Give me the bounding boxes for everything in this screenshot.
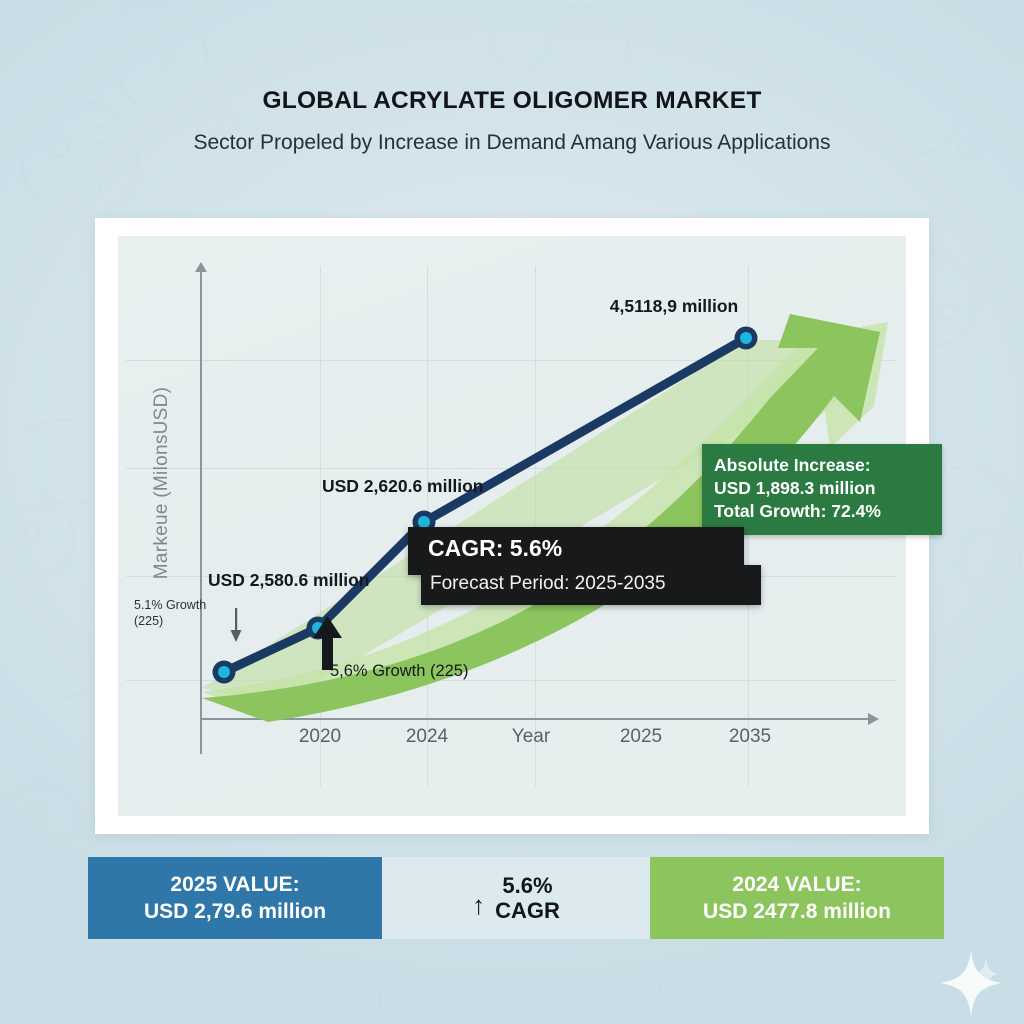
page-subtitle: Sector Propeled by Increase in Demand Am…	[0, 131, 1024, 155]
sparkle-icon	[940, 950, 1002, 1016]
x-axis-tick-labels: 2020 2024 Year 2025 2035	[118, 726, 906, 766]
x-tick-2035: 2035	[729, 726, 771, 748]
stat-2024-label: 2024 VALUE:	[732, 871, 861, 898]
y-axis-label: Markeue (MilonsUSD)	[151, 373, 173, 593]
x-tick-2020: 2020	[299, 726, 341, 748]
growth-down-arrow-icon	[231, 608, 242, 642]
stat-cagr-text: 5.6% CAGR	[495, 873, 560, 924]
total-growth-line: Total Growth: 72.4%	[714, 500, 930, 523]
page-title: GLOBAL ACRYLATE OLIGOMER MARKET	[0, 88, 1024, 115]
growth-annotation-mid: 5,6% Growth (225)	[330, 662, 468, 681]
summary-stats-bar: 2025 VALUE: USD 2,79.6 million ↑ 5.6% CA…	[88, 857, 944, 939]
stat-2024-value: USD 2477.8 million	[703, 898, 891, 925]
header-block: GLOBAL ACRYLATE OLIGOMER MARKET Sector P…	[0, 88, 1024, 155]
x-axis-title: Year	[512, 726, 550, 748]
stat-card-2025-value: 2025 VALUE: USD 2,79.6 million	[88, 857, 382, 939]
stat-card-2024-value: 2024 VALUE: USD 2477.8 million	[650, 857, 944, 939]
cagr-callout-bottom: Forecast Period: 2025-2035	[421, 565, 761, 605]
stat-cagr-value: 5.6%	[502, 873, 552, 898]
stat-2025-label: 2025 VALUE:	[170, 871, 299, 898]
forecast-period-text: Forecast Period: 2025-2035	[430, 573, 666, 595]
absolute-increase-line2: USD 1,898.3 million	[714, 477, 930, 500]
stat-2025-value: USD 2,79.6 million	[144, 898, 326, 925]
data-point-marker	[213, 661, 236, 684]
x-tick-2024: 2024	[406, 726, 448, 748]
growth-annotation-left-line2: (225)	[134, 614, 163, 628]
data-point-marker	[735, 327, 758, 350]
growth-annotation-left: 5.1% Growth (225)	[134, 598, 206, 629]
growth-annotation-left-line1: 5.1% Growth	[134, 598, 206, 612]
cagr-callout-value: CAGR: 5.6%	[428, 535, 562, 562]
absolute-increase-box: Absolute Increase: USD 1,898.3 million T…	[702, 444, 942, 535]
x-tick-2025: 2025	[620, 726, 662, 748]
up-arrow-icon: ↑	[472, 892, 485, 918]
data-label-2020: USD 2,580.6 million	[208, 570, 369, 591]
data-label-2024: USD 2,620.6 million	[322, 476, 483, 497]
data-label-2035: 4,5118,9 million	[610, 296, 738, 317]
stat-cagr-label: CAGR	[495, 898, 560, 923]
absolute-increase-line1: Absolute Increase:	[714, 454, 930, 477]
stat-card-cagr: ↑ 5.6% CAGR	[382, 857, 650, 939]
